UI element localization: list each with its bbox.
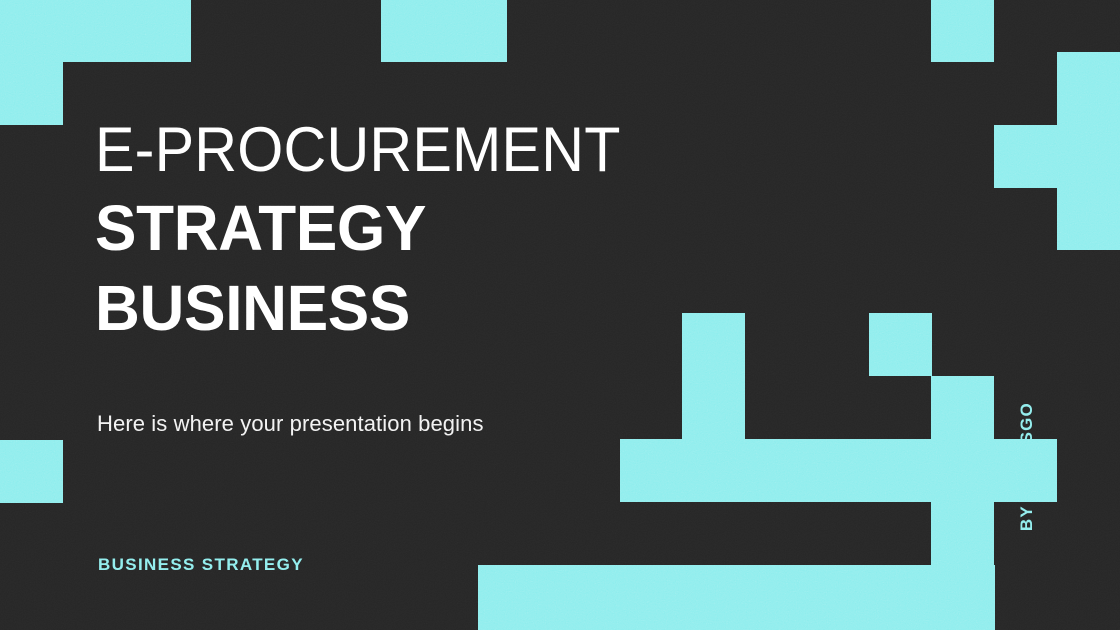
page-title: E-PROCUREMENT STRATEGY BUSINESS	[95, 112, 815, 348]
subtitle: Here is where your presentation begins	[97, 411, 484, 437]
title-slide: E-PROCUREMENT STRATEGY BUSINESS Here is …	[0, 0, 1120, 630]
title-line-light: E-PROCUREMENT	[95, 112, 772, 188]
byline-slidesgo: BY SLIDESGO	[1017, 402, 1037, 531]
title-line-bold-1: STRATEGY	[95, 188, 793, 268]
title-line-bold-2: BUSINESS	[95, 268, 793, 348]
tagline: BUSINESS STRATEGY	[98, 555, 304, 575]
